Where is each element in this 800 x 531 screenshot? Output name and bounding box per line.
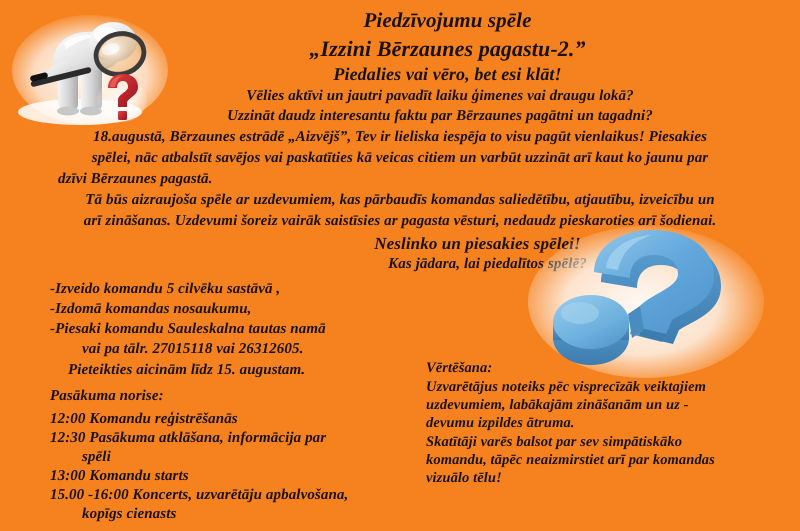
description-paragraph-line-1: Tā būs aizraujoša spēle ar uzdevumiem, k… xyxy=(0,192,800,209)
evaluation-line: komandu, tāpēc neaizmirstiet arī par kom… xyxy=(426,452,715,469)
lead-question-2: Uzzināt daudz interesantu faktu par Bērz… xyxy=(0,108,800,125)
evaluation-heading: Vērtēšana: xyxy=(426,360,492,377)
intro-paragraph-line-2: spēlei, nāc atbalstīt savējos vai paskat… xyxy=(0,150,800,167)
evaluation-line: Uzvarētājus noteiks pēc visprecīzāk veik… xyxy=(426,379,706,396)
schedule-heading: Pasākuma norise: xyxy=(50,388,164,405)
intro-paragraph-line-3: dzīvi Bērzaunes pagastā. xyxy=(58,171,213,188)
evaluation-line: devumu izpildes ātruma. xyxy=(426,415,575,432)
schedule-item: 15.00 -16:00 Koncerts, uzvarētāju apbalv… xyxy=(50,487,348,504)
schedule-item: 12:30 Pasākuma atklāšana, informācija pa… xyxy=(50,430,326,447)
blue-question-mark-icon xyxy=(528,222,766,382)
page-tagline: Piedalies vai vēro, bet esi klāt! xyxy=(0,64,800,85)
page-title: Piedzīvojumu spēle xyxy=(0,8,800,33)
schedule-item-wrap: spēli xyxy=(82,449,111,466)
page-subtitle: „Izzini Bērzaunes pagastu-2.” xyxy=(0,36,800,62)
registration-deadline: Pieteikties aicinām līdz 15. augustam. xyxy=(68,362,305,379)
evaluation-line: vizuālo tēlu! xyxy=(426,470,502,487)
step-item-phone: vai pa tālr. 27015118 vai 26312605. xyxy=(82,341,303,358)
step-item: -Izveido komandu 5 cilvēku sastāvā , xyxy=(50,281,280,298)
evaluation-line: uzdevumiem, labākajām zināšanām un uz - xyxy=(426,397,689,414)
step-item: -Izdomā komandas nosaukumu, xyxy=(50,301,252,318)
schedule-item: 12:00 Komandu reģistrēšanās xyxy=(50,411,238,428)
step-item: -Piesaki komandu Sauleskalna tautas namā xyxy=(50,321,326,338)
poster-canvas: Piedzīvojumu spēle „Izzini Bērzaunes pag… xyxy=(0,0,800,531)
lead-question-1: Vēlies aktīvi un jautri pavadīt laiku ģi… xyxy=(0,88,800,105)
schedule-item: 13:00 Komandu starts xyxy=(50,468,189,485)
schedule-item-wrap: kopīgs cienasts xyxy=(82,506,176,523)
evaluation-line: Skatītāji varēs balsot par sev simpātisk… xyxy=(426,434,682,451)
intro-paragraph-line-1: 18.augustā, Bērzaunes estrādē „Aizvējš”,… xyxy=(0,129,800,146)
